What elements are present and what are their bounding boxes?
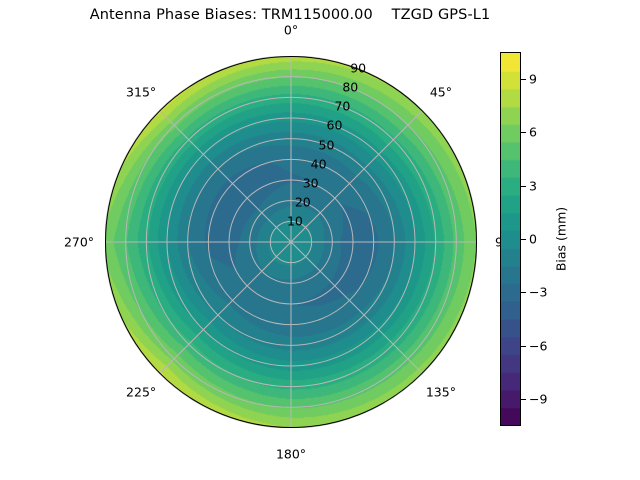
colorbar-tick [521, 292, 526, 293]
polar-axes[interactable]: 0°45°90135°180°225°270°315° 102030405060… [105, 56, 477, 428]
colorbar-tick-label: 9 [529, 71, 537, 86]
r-tick-label: 20 [295, 194, 311, 209]
theta-tick-label: 135° [426, 384, 456, 399]
r-tick-label: 80 [342, 80, 358, 95]
theta-tick-label: 180° [276, 447, 306, 462]
colorbar-tick [521, 239, 526, 240]
theta-tick-label: 315° [126, 85, 156, 100]
r-tick-label: 40 [311, 156, 327, 171]
colorbar-gradient [500, 52, 521, 426]
figure-canvas: Antenna Phase Biases: TRM115000.00 TZGD … [0, 0, 640, 480]
colorbar-tick [521, 79, 526, 80]
colorbar[interactable]: 9630−3−6−9 [500, 52, 521, 426]
colorbar-tick-label: 6 [529, 125, 537, 140]
colorbar-tick-label: 3 [529, 178, 537, 193]
theta-tick-label: 0° [284, 23, 298, 38]
polar-plot-area [105, 56, 477, 428]
polar-contour-data [105, 56, 477, 428]
colorbar-tick-label: −9 [529, 392, 547, 407]
colorbar-tick-label: −6 [529, 338, 547, 353]
colorbar-tick [521, 346, 526, 347]
theta-tick-label: 225° [126, 384, 156, 399]
colorbar-tick-label: 0 [529, 232, 537, 247]
chart-title: Antenna Phase Biases: TRM115000.00 TZGD … [0, 7, 580, 23]
r-tick-label: 50 [319, 137, 335, 152]
theta-tick-label: 45° [430, 85, 452, 100]
colorbar-axis-label: Bias (mm) [554, 207, 569, 271]
r-tick-label: 70 [334, 99, 350, 114]
colorbar-tick [521, 399, 526, 400]
colorbar-tick [521, 132, 526, 133]
theta-tick-label: 270° [64, 235, 94, 250]
r-tick-label: 90 [350, 61, 366, 76]
r-tick-label: 10 [287, 213, 303, 228]
r-tick-label: 60 [327, 118, 343, 133]
r-tick-label: 30 [303, 175, 319, 190]
colorbar-tick-label: −3 [529, 285, 547, 300]
colorbar-tick [521, 186, 526, 187]
